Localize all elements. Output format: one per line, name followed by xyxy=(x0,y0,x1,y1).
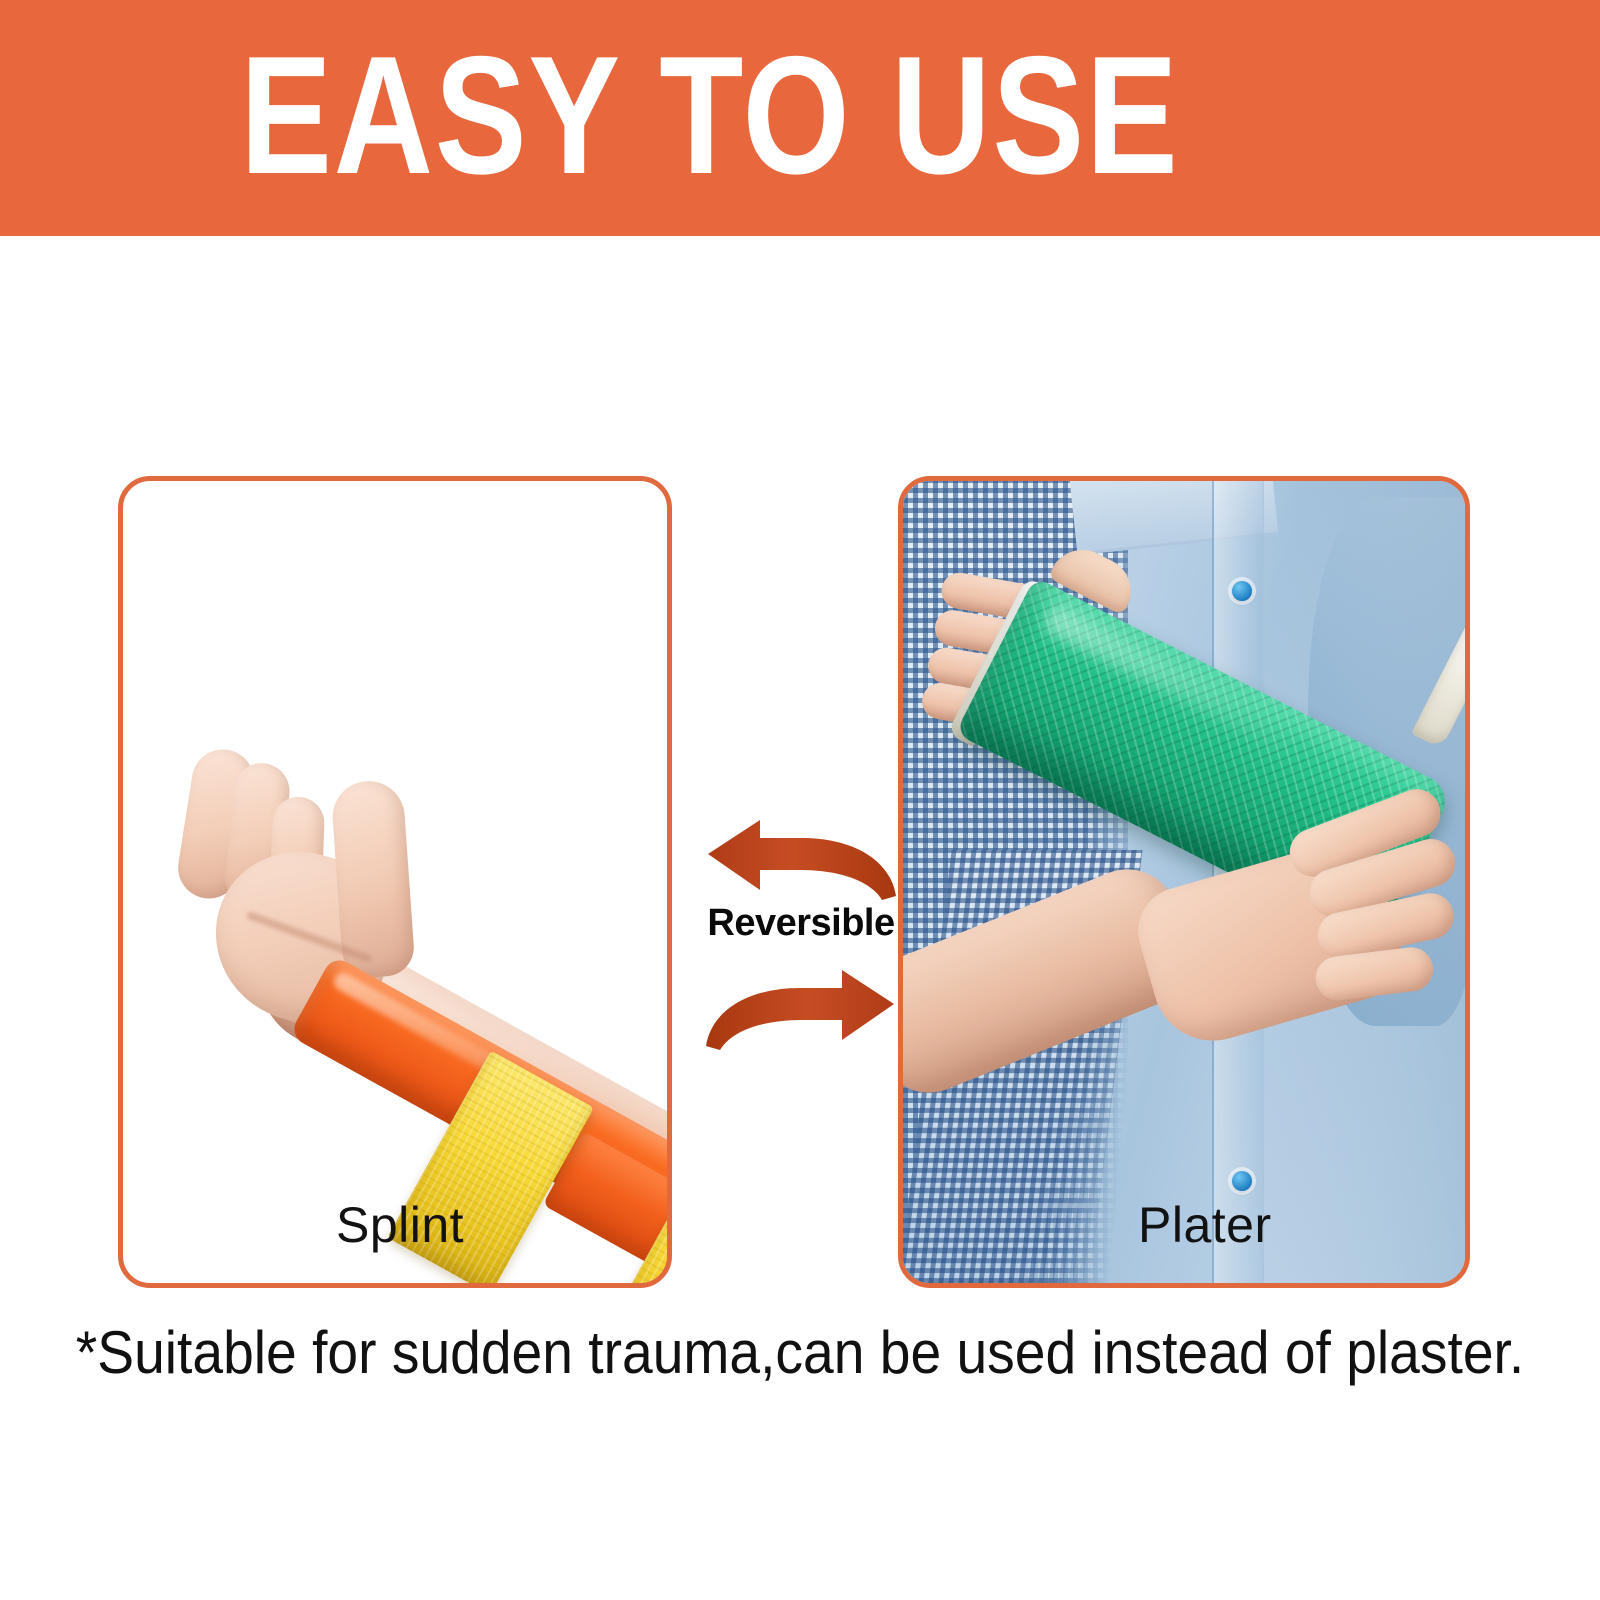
panel-label-splint: Splint xyxy=(336,1196,464,1254)
panel-splint xyxy=(118,476,672,1288)
footer-caption: *Suitable for sudden trauma,can be used … xyxy=(64,1318,1536,1387)
panel-label-plater: Plater xyxy=(1138,1196,1272,1254)
plater-photo xyxy=(903,481,1465,1283)
page-title: EASY TO USE xyxy=(240,31,1179,199)
panel-plater xyxy=(898,476,1470,1288)
shirt-button-bottom xyxy=(1232,1171,1252,1191)
reversible-label: Reversible xyxy=(690,902,912,945)
splint-illustration xyxy=(123,481,667,1283)
curved-arrow-right-icon xyxy=(690,968,912,1052)
reversible-badge: Reversible xyxy=(690,818,912,1048)
shirt-button-top xyxy=(1232,581,1252,601)
header-band: EASY TO USE xyxy=(0,0,1600,236)
curved-arrow-left-icon xyxy=(690,818,912,902)
